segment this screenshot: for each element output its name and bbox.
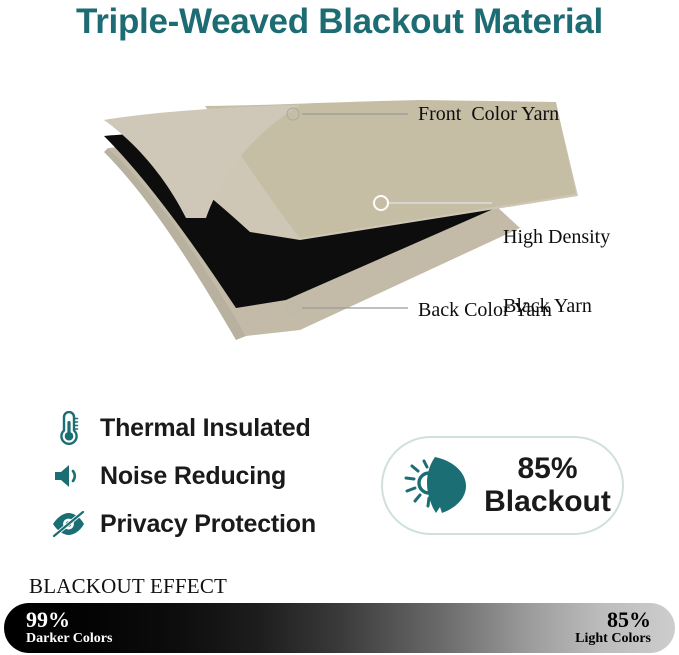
darker-colors-stat: 99% Darker Colors	[26, 608, 112, 646]
light-colors-label: Light Colors	[575, 631, 651, 646]
blackout-effect-gradient-bar: 99% Darker Colors 85% Light Colors	[4, 603, 675, 653]
callout-line-1: High Density	[503, 226, 610, 249]
feature-privacy-protection: Privacy Protection	[48, 502, 358, 546]
darker-colors-label: Darker Colors	[26, 631, 112, 646]
feature-list: Thermal Insulated Noise Reducing Privacy…	[48, 406, 358, 550]
feature-thermal-insulated: Thermal Insulated	[48, 406, 358, 450]
blackout-percent: 85%	[481, 453, 614, 485]
eye-slash-icon	[48, 505, 88, 543]
feature-label: Thermal Insulated	[100, 414, 311, 443]
blackout-word: Blackout	[481, 486, 614, 518]
callout-back-color-yarn: Back Color Yarn	[418, 299, 552, 322]
blackout-badge: 85% Blackout	[381, 436, 624, 535]
sun-blocked-by-curtain-icon	[397, 453, 481, 519]
light-colors-percent: 85%	[575, 608, 651, 631]
darker-colors-percent: 99%	[26, 608, 112, 631]
feature-noise-reducing: Noise Reducing	[48, 454, 358, 498]
light-colors-stat: 85% Light Colors	[575, 608, 651, 646]
thermometer-icon	[48, 409, 88, 447]
blackout-effect-heading: BLACKOUT EFFECT	[29, 574, 227, 599]
page-title: Triple-Weaved Blackout Material	[0, 2, 679, 42]
callout-front-color-yarn: Front Color Yarn	[418, 103, 559, 126]
feature-label: Noise Reducing	[100, 462, 286, 491]
feature-label: Privacy Protection	[100, 510, 316, 539]
speaker-sound-icon	[48, 457, 88, 495]
blackout-badge-text: 85% Blackout	[481, 453, 622, 518]
